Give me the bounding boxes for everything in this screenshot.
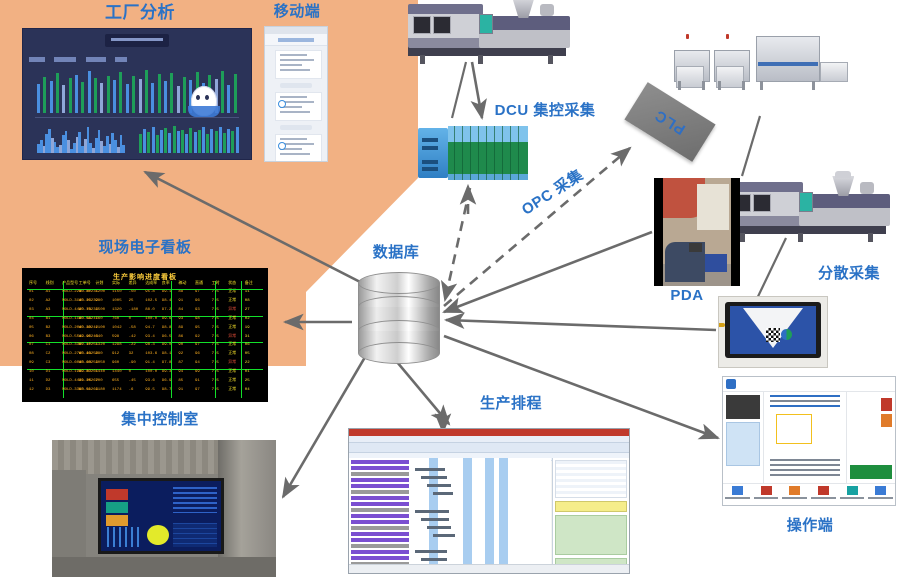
kanban-cell: 03 xyxy=(29,308,34,313)
kanban-cell: 7.5 xyxy=(212,352,219,357)
display-table xyxy=(173,523,217,547)
kanban-cell: 06 xyxy=(29,335,34,340)
kanban-cell: 96.9 xyxy=(162,379,172,384)
kanban-cell: 1005 xyxy=(112,299,122,304)
terminal-header xyxy=(723,377,895,392)
kanban-cell: 7.5 xyxy=(212,317,219,322)
dcu-io-rack xyxy=(448,126,528,180)
kanban-cell: 99.3 xyxy=(162,370,172,375)
kanban-cell: 84 xyxy=(178,308,183,313)
kanban-title: 生产影响进度看板 xyxy=(113,272,177,282)
kanban-cell: -6 xyxy=(129,388,134,393)
label-kanban: 现场电子看板 xyxy=(75,240,215,257)
kanban-header-cell: 状态 xyxy=(228,282,236,287)
phone-message-card[interactable] xyxy=(275,50,322,79)
pda-photo xyxy=(654,178,740,286)
kanban-cell: 正常 xyxy=(228,388,236,393)
kanban-cell: -180 xyxy=(129,308,139,313)
kanban-cell: 102.5 xyxy=(145,299,157,304)
kanban-cell: 08 xyxy=(245,299,250,304)
toolbar[interactable] xyxy=(349,443,629,453)
avatar xyxy=(881,414,892,427)
kanban-cell: 7.5 xyxy=(212,379,219,384)
kanban-cell: 04 xyxy=(245,388,250,393)
kanban-cell: 95.8 xyxy=(145,290,155,295)
display-chart-grid xyxy=(173,487,217,513)
kanban-cell: 760 xyxy=(112,317,119,322)
kanban-cell: D2 xyxy=(46,379,51,384)
toolbar-item[interactable] xyxy=(723,484,752,505)
kanban-cell: 1200 xyxy=(95,290,105,295)
kanban-cell: 85 xyxy=(178,379,183,384)
kanban-cell: 04 xyxy=(29,317,34,322)
phone-time-divider xyxy=(280,83,312,88)
kanban-cell: 87 xyxy=(178,361,183,366)
mascot-icon xyxy=(191,86,217,116)
kanban-cell: 1050 xyxy=(95,361,105,366)
kanban-header-cell: 计划 xyxy=(95,282,103,287)
app-logo-icon xyxy=(726,379,736,389)
kanban-cell: 7.5 xyxy=(212,308,219,313)
pda-handheld-device xyxy=(689,243,702,252)
kanban-header-cell: 直通 xyxy=(195,282,203,287)
kanban-cell: 100.0 xyxy=(145,317,157,322)
kanban-cell: 96.5 xyxy=(162,335,172,340)
kanban-cell: 100.0 xyxy=(145,370,157,375)
plc-label: PLC xyxy=(652,106,689,138)
kanban-cell: 93.4 xyxy=(145,335,155,340)
phone-message-card[interactable] xyxy=(275,134,322,162)
tablet-bezel xyxy=(725,302,821,358)
kanban-cell: 异常 xyxy=(228,308,236,313)
kanban-cell: 0 xyxy=(129,370,131,375)
kanban-cell: 97 xyxy=(195,343,200,348)
kanban-cell: 1150 xyxy=(112,290,122,295)
kanban-cell: 99.6 xyxy=(162,317,172,322)
window-title-bar xyxy=(349,429,629,436)
tablet-screen[interactable] xyxy=(730,306,816,354)
kanban-cell: 88.0 xyxy=(145,308,155,313)
label-dcu: DCU 集控采集 xyxy=(480,103,610,120)
kanban-cell: 93 xyxy=(178,317,183,322)
kanban-cell: B1 xyxy=(46,317,51,322)
kanban-cell: 95 xyxy=(195,326,200,331)
phone-message-card[interactable] xyxy=(275,92,322,121)
kanban-cell: 25 xyxy=(245,379,250,384)
kanban-cell: 25 xyxy=(129,299,134,304)
kanban-cell: 99.1 xyxy=(162,290,172,295)
toolbar-item[interactable] xyxy=(838,484,867,505)
kanban-cell: 31 xyxy=(245,335,250,340)
kanban-cell: 1320 xyxy=(95,343,105,348)
status-bar xyxy=(349,564,629,573)
highlight-marker xyxy=(147,525,169,545)
kanban-cell: 92 xyxy=(195,335,200,340)
dcu-device xyxy=(418,126,528,180)
operator-terminal-ui[interactable] xyxy=(722,376,896,506)
toolbar-item[interactable] xyxy=(866,484,895,505)
left-pane[interactable] xyxy=(723,392,764,483)
kanban-cell: 89 xyxy=(178,326,183,331)
kanban-cell: 960 xyxy=(112,361,119,366)
kanban-cell: 正常 xyxy=(228,290,236,295)
kanban-cell: -42 xyxy=(129,335,136,340)
kanban-cell: B2 xyxy=(46,326,51,331)
kanban-cell: 598 xyxy=(112,335,119,340)
kanban-cell: 正常 xyxy=(228,370,236,375)
kanban-cell: 正常 xyxy=(228,379,236,384)
kanban-cell: 980 xyxy=(95,299,102,304)
avatar xyxy=(881,398,892,411)
kanban-cell: -22 xyxy=(129,343,136,348)
kanban-header-cell: 序号 xyxy=(29,282,37,287)
kanban-cell: 1500 xyxy=(95,308,105,313)
label-mobile: 移动端 xyxy=(262,4,332,21)
kanban-cell: 05 xyxy=(245,352,250,357)
injection-molding-machine-top xyxy=(408,0,570,64)
control-room-display xyxy=(98,478,224,554)
kanban-cell: 正常 xyxy=(228,317,236,322)
kanban-cell: 98.4 xyxy=(162,299,172,304)
kanban-cell: 86 xyxy=(178,335,183,340)
kanban-cell: 99.5 xyxy=(145,388,155,393)
kanban-cell: 7.5 xyxy=(212,388,219,393)
kanban-header-cell: 工单号 xyxy=(79,282,91,287)
kanban-cell: 98.1 xyxy=(162,352,172,357)
label-scheduling: 生产排程 xyxy=(466,396,556,413)
dashboard-chart-bottom-right xyxy=(139,125,239,153)
label-factory-analysis: 工厂分析 xyxy=(85,4,195,23)
kanban-cell: C2 xyxy=(46,352,51,357)
kanban-cell: 7.5 xyxy=(212,326,219,331)
nfc-icon xyxy=(781,329,792,340)
part-thumbnail xyxy=(726,395,760,419)
kanban-cell: 97.8 xyxy=(162,361,172,366)
kanban-cell: 880 xyxy=(95,352,102,357)
kanban-header-cell: 稼动 xyxy=(178,282,186,287)
kanban-cell: 98.7 xyxy=(162,388,172,393)
center-pane[interactable] xyxy=(764,392,846,483)
plc-device: PLC xyxy=(624,82,715,162)
kanban-cell: 98.3 xyxy=(145,343,155,348)
kanban-cell: 700 xyxy=(95,379,102,384)
right-pane[interactable] xyxy=(846,392,895,483)
kanban-cell: 异常 xyxy=(228,335,236,340)
info-block xyxy=(726,422,760,466)
kanban-cell: 98 xyxy=(195,317,200,322)
kanban-cell: 正常 xyxy=(228,299,236,304)
kanban-cell: 97.2 xyxy=(162,308,172,313)
kanban-cell: A2 xyxy=(46,299,51,304)
kanban-cell: A1 xyxy=(46,290,51,295)
kanban-cell: 1440 xyxy=(95,370,105,375)
kanban-header-cell: 备注 xyxy=(245,282,253,287)
kanban-cell: 94 xyxy=(178,370,183,375)
kanban-cell: -50 xyxy=(129,290,136,295)
kanban-cell: 97 xyxy=(195,290,200,295)
label-operator-terminal: 操作端 xyxy=(772,518,848,535)
kanban-cell: 7.5 xyxy=(212,370,219,375)
kanban-cell: 22 xyxy=(245,361,250,366)
kanban-cell: 640 xyxy=(95,335,102,340)
kanban-cell: 93.6 xyxy=(145,379,155,384)
kanban-cell: 11 xyxy=(245,290,250,295)
kanban-cell: 94.7 xyxy=(145,326,155,331)
bottom-toolbar[interactable] xyxy=(723,483,895,505)
electronic-kanban-board: 生产影响进度看板 序号线别产品型号工单号计划实际差异达成率良率稼动直通工时状态备… xyxy=(22,268,268,402)
kanban-cell: 91 xyxy=(195,379,200,384)
kanban-cell: 98.8 xyxy=(162,326,172,331)
kanban-cell: C1 xyxy=(46,343,51,348)
toolbar-item[interactable] xyxy=(780,484,809,505)
kanban-cell: 正常 xyxy=(228,352,236,357)
label-database: 数据库 xyxy=(356,245,436,262)
kanban-cell: 88 xyxy=(178,290,183,295)
kanban-cell: 0 xyxy=(129,317,131,322)
kanban-cell: 07 xyxy=(29,343,34,348)
kanban-cell: 7.5 xyxy=(212,299,219,304)
label-pda: PDA xyxy=(655,288,719,305)
kanban-cell: 1180 xyxy=(95,388,105,393)
kanban-cell: 08 xyxy=(29,352,34,357)
kanban-header-cell: 差异 xyxy=(129,282,137,287)
kanban-cell: 94 xyxy=(195,361,200,366)
dashboard-filter-chips[interactable] xyxy=(29,49,149,55)
kanban-cell: A3 xyxy=(46,308,51,313)
kanban-header-cell: 线别 xyxy=(46,282,54,287)
dashboard-title-bar xyxy=(105,34,169,47)
database-cylinder xyxy=(358,272,440,364)
kanban-cell: 912 xyxy=(112,352,119,357)
kanban-cell: 96 xyxy=(195,299,200,304)
kanban-cell: 1320 xyxy=(112,308,122,313)
kanban-cell: 91.4 xyxy=(145,361,155,366)
kanban-cell: 1042 xyxy=(112,326,122,331)
kanban-cell: 1440 xyxy=(112,370,122,375)
factory-analysis-dashboard[interactable] xyxy=(22,28,252,160)
label-distributed-acquisition: 分散采集 xyxy=(806,266,892,283)
kanban-cell: 正常 xyxy=(228,326,236,331)
kanban-cell: C3 xyxy=(46,361,51,366)
kanban-header-cell: 工时 xyxy=(212,282,220,287)
menu-bar[interactable] xyxy=(349,436,629,443)
dcu-cpu-module xyxy=(418,128,448,178)
label-control-room: 集中控制室 xyxy=(92,412,228,429)
kanban-cell: 99.0 xyxy=(162,343,172,348)
kanban-cell: 1298 xyxy=(112,343,122,348)
unread-dot-icon xyxy=(278,100,286,108)
floor xyxy=(52,557,276,577)
kanban-cell: 93 xyxy=(195,308,200,313)
kanban-cell: 91 xyxy=(178,299,183,304)
display-sparkline xyxy=(107,527,141,547)
industrial-tablet[interactable] xyxy=(718,296,828,368)
kanban-cell: 05 xyxy=(29,326,34,331)
kanban-cell: 02 xyxy=(29,299,34,304)
unread-dot-icon xyxy=(278,142,286,150)
kanban-cell: 32 xyxy=(129,352,134,357)
dashboard-chart-bottom-left xyxy=(37,125,125,153)
order-list-pane[interactable] xyxy=(349,458,411,565)
kpi-tile-utilization xyxy=(106,502,128,513)
kanban-cell: 99 xyxy=(195,370,200,375)
kanban-cell: 91 xyxy=(178,388,183,393)
kanban-cell: 12 xyxy=(29,388,34,393)
control-room-photo xyxy=(52,440,276,577)
detail-pane[interactable] xyxy=(552,458,629,565)
phone-time-divider xyxy=(280,125,312,130)
kanban-cell: 10 xyxy=(29,370,34,375)
kpi-tile-alarm xyxy=(106,515,128,526)
kanban-header-cell: 达成率 xyxy=(145,282,157,287)
kanban-cell: 7.5 xyxy=(212,290,219,295)
architecture-diagram: 工厂分析 移动端 现场电子看板 集中控制室 数据库 DCU 集控采集 OPC 采… xyxy=(0,0,900,577)
kanban-cell: 655 xyxy=(112,379,119,384)
kanban-cell: D3 xyxy=(46,388,51,393)
kanban-cell: 97 xyxy=(195,388,200,393)
injection-molding-machine-right xyxy=(728,168,890,242)
phone-chat-header xyxy=(265,34,327,46)
kanban-cell: 异常 xyxy=(228,361,236,366)
kanban-cell: 01 xyxy=(245,370,250,375)
kanban-cell: 19 xyxy=(245,326,250,331)
kpi-tile-output xyxy=(106,489,128,500)
kanban-cell: B3 xyxy=(46,335,51,340)
antenna xyxy=(718,323,725,327)
kanban-cell: 92 xyxy=(178,352,183,357)
kanban-cell: 11 xyxy=(29,379,34,384)
toolbar-item[interactable] xyxy=(809,484,838,505)
kanban-cell: 09 xyxy=(29,361,34,366)
kanban-cell: 27 xyxy=(245,308,250,313)
mobile-phone-screen[interactable] xyxy=(264,26,328,162)
toolbar-item[interactable] xyxy=(752,484,781,505)
kanban-cell: 760 xyxy=(95,317,102,322)
kanban-cell: 7.5 xyxy=(212,343,219,348)
kanban-header-cell: 产品型号 xyxy=(62,282,78,287)
automation-production-line xyxy=(668,28,848,92)
kanban-cell: 06 xyxy=(245,343,250,348)
kanban-cell: 7.5 xyxy=(212,335,219,340)
gantt-chart-pane[interactable] xyxy=(411,458,551,565)
kanban-cell: 正常 xyxy=(228,343,236,348)
kanban-cell: 02 xyxy=(245,317,250,322)
kanban-cell: 1174 xyxy=(112,388,122,393)
confirm-button[interactable] xyxy=(850,465,892,479)
phone-status-bar xyxy=(265,27,327,34)
kanban-cell: D1 xyxy=(46,370,51,375)
qr-code-icon xyxy=(766,328,780,342)
kanban-cell: 7.5 xyxy=(212,361,219,366)
kanban-cell: 96 xyxy=(195,352,200,357)
kanban-cell: 01 xyxy=(29,290,34,295)
kanban-header-cell: 实际 xyxy=(112,282,120,287)
kanban-cell: 1100 xyxy=(95,326,105,331)
kanban-header-cell: 良率 xyxy=(162,282,170,287)
production-scheduling-window[interactable] xyxy=(348,428,630,574)
kanban-cell: 90 xyxy=(178,343,183,348)
highlight-frame xyxy=(776,414,812,444)
kanban-cell: -90 xyxy=(129,361,136,366)
kanban-cell: 103.6 xyxy=(145,352,157,357)
kanban-cell: -45 xyxy=(129,379,136,384)
kanban-cell: -58 xyxy=(129,326,136,331)
